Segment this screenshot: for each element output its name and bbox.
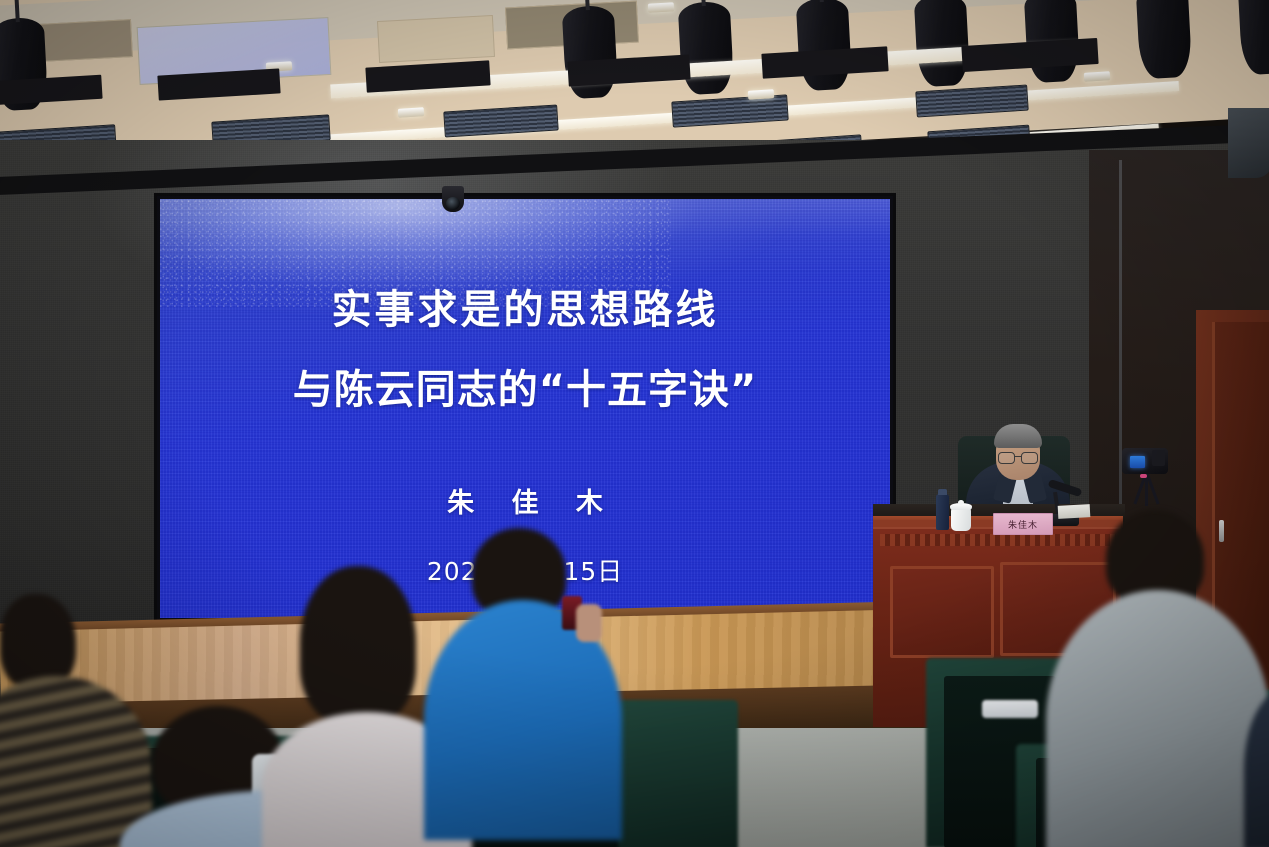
podium-carved-band xyxy=(880,534,1116,546)
lecture-hall-photo: 实事求是的思想路线 与陈云同志的“十五字诀” 朱 佳 木 2023年2月15日 … xyxy=(0,0,1269,847)
photographer-hand xyxy=(576,604,602,642)
camera-lcd-screen xyxy=(1130,456,1145,468)
door-handle[interactable] xyxy=(1219,520,1224,542)
audience-head-white xyxy=(300,566,416,724)
dome-camera-icon xyxy=(442,186,464,212)
thermos xyxy=(936,494,949,530)
speaker-glasses-icon xyxy=(998,452,1038,462)
face-mask-on-seat xyxy=(982,700,1038,718)
slide-title-line-2: 与陈云同志的“十五字诀” xyxy=(293,357,758,415)
teacup xyxy=(951,508,971,531)
stage-light-4 xyxy=(796,0,853,91)
slide-author: 朱 佳 木 xyxy=(433,481,617,520)
stage-light-7 xyxy=(1136,0,1193,79)
ceiling-downlight-4 xyxy=(748,89,775,100)
podium-panel-left xyxy=(890,566,994,658)
stage-light-3 xyxy=(678,1,735,96)
teacup-knob xyxy=(958,500,964,505)
ceiling-access-hatch xyxy=(377,15,495,63)
ceiling-downlight-2 xyxy=(648,2,674,12)
slide-title-line-1: 实事求是的思想路线 xyxy=(332,277,719,335)
glasses-lens-right xyxy=(1021,452,1038,464)
speaker-hair xyxy=(994,424,1042,448)
camera-lens xyxy=(1152,450,1165,466)
glasses-lens-left xyxy=(998,452,1015,464)
wall-loudspeaker xyxy=(1228,108,1269,178)
ceiling-downlight-5 xyxy=(1084,71,1111,82)
seat-back-3 xyxy=(618,700,738,847)
speaker-name-card: 朱佳木 xyxy=(993,513,1053,535)
stage-light-5 xyxy=(914,0,971,87)
audience-body-grey xyxy=(1046,590,1269,847)
tripod-accent xyxy=(1140,474,1147,478)
ceiling-downlight-3 xyxy=(398,107,425,118)
paper-stack xyxy=(1058,504,1091,519)
